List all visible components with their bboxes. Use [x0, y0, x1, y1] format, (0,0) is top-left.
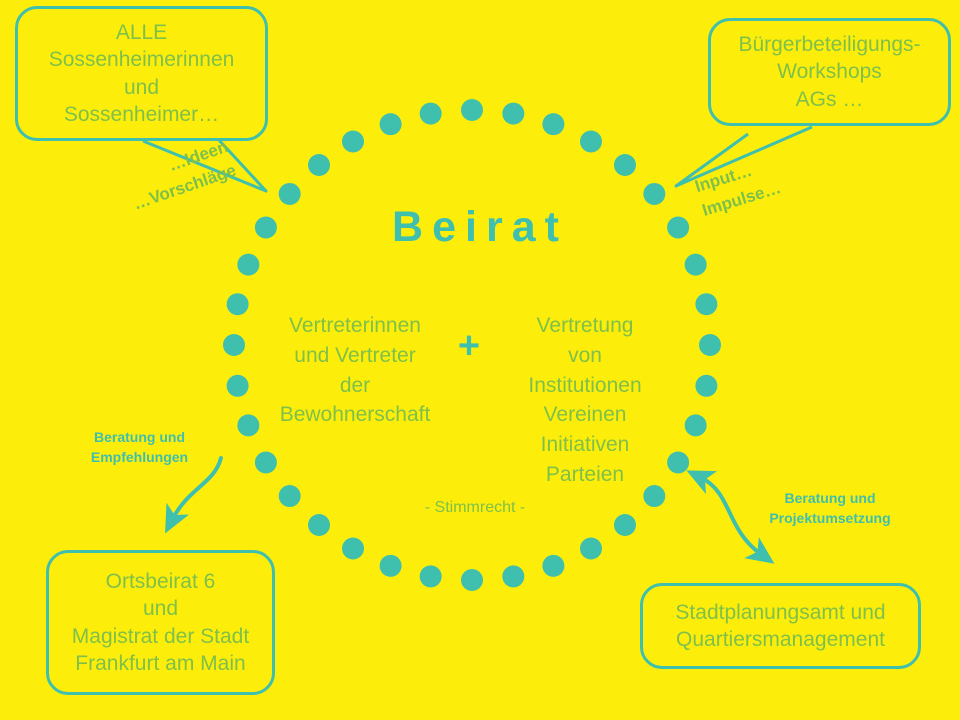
ring-dot [685, 414, 707, 436]
ring-dot [279, 485, 301, 507]
ring-dot [308, 154, 330, 176]
ring-dot [279, 183, 301, 205]
ring-dot [614, 514, 636, 536]
ring-dot [502, 103, 524, 125]
ring-dot [255, 452, 277, 474]
ring-dot [580, 538, 602, 560]
ring-dot [614, 154, 636, 176]
ring-dot [237, 414, 259, 436]
ring-dot [342, 538, 364, 560]
ring-dot [699, 334, 721, 356]
ring-dot [542, 555, 564, 577]
ring-dot [542, 113, 564, 135]
bubble-all-citizens: ALLE Sossenheimerinnen und Sossenheimer… [15, 6, 268, 141]
stimmrecht-note: - Stimmrecht - [330, 499, 620, 517]
annotation-beratung-projektumsetzung: Beratung und Projektumsetzung [740, 488, 920, 529]
bubble-participation-workshops-text: Bürgerbeteiligungs- Workshops AGs … [738, 31, 920, 113]
ring-dot [420, 565, 442, 587]
ring-dot [685, 254, 707, 276]
box-ortsbeirat-magistrat: Ortsbeirat 6 und Magistrat der Stadt Fra… [46, 550, 275, 695]
ring-dot [695, 375, 717, 397]
annotation-beratung-empfehlungen: Beratung und Empfehlungen [62, 427, 217, 468]
ring-dot [502, 565, 524, 587]
plus-icon: + [444, 327, 494, 365]
ring-dot [223, 334, 245, 356]
box-stadtplanungsamt-quartiersmanagement: Stadtplanungsamt und Quartiersmanagement [640, 583, 921, 669]
column-institutions-representation: Vertretung von Institutionen Vereinen In… [492, 311, 678, 490]
ring-dot [227, 375, 249, 397]
ring-dot [380, 555, 402, 577]
bubble-all-citizens-text: ALLE Sossenheimerinnen und Sossenheimer… [49, 19, 235, 128]
ring-dot [695, 293, 717, 315]
box-stadtplanungsamt-quartiersmanagement-text: Stadtplanungsamt und Quartiersmanagement [675, 599, 885, 654]
ring-dot [342, 130, 364, 152]
ring-dot [580, 130, 602, 152]
bubble-participation-workshops: Bürgerbeteiligungs- Workshops AGs … [708, 18, 951, 126]
ring-dot [461, 569, 483, 591]
ring-dot [420, 103, 442, 125]
column-residents-representatives: Vertreterinnen und Vertreter der Bewohne… [266, 311, 444, 430]
diagram-canvas: ALLE Sossenheimerinnen und Sossenheimer…… [0, 0, 960, 720]
ring-dot [643, 183, 665, 205]
ring-dot [461, 99, 483, 121]
ring-dot [237, 254, 259, 276]
ring-dot [380, 113, 402, 135]
box-ortsbeirat-magistrat-text: Ortsbeirat 6 und Magistrat der Stadt Fra… [72, 568, 249, 677]
ring-dot [308, 514, 330, 536]
ring-dot [227, 293, 249, 315]
